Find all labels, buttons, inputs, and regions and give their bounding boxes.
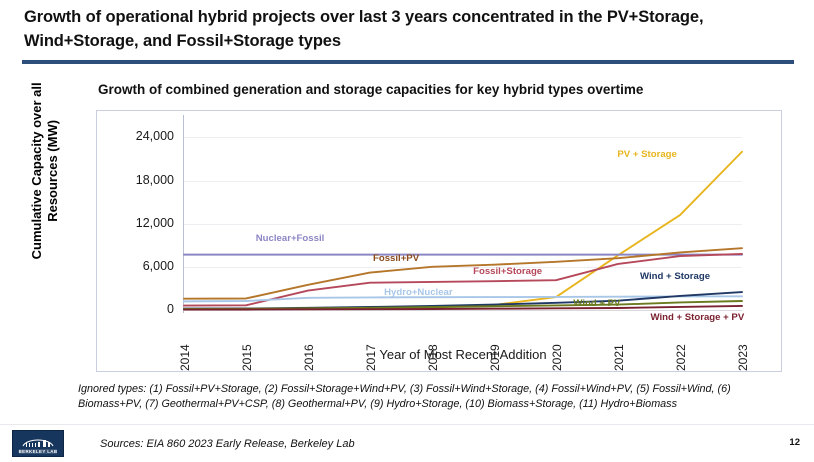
- x-axis-tick-label: 2017: [364, 314, 378, 371]
- y-axis-tick-label: 24,000: [100, 129, 174, 143]
- x-axis-tick-label: 2020: [550, 314, 564, 371]
- page-title: Growth of operational hybrid projects ov…: [24, 6, 794, 54]
- series-label: Fossil+Storage: [473, 266, 542, 277]
- y-axis-tick-label: 6,000: [100, 259, 174, 273]
- x-axis-tick-label: 2015: [240, 314, 254, 371]
- chart-title: Growth of combined generation and storag…: [98, 82, 788, 97]
- x-axis-tick-label: 2016: [302, 314, 316, 371]
- x-axis-tick-label: 2014: [178, 314, 192, 371]
- x-axis-tick-label: 2018: [426, 314, 440, 371]
- series-label: Wind + Storage: [640, 271, 710, 282]
- series-label: Fossil+PV: [373, 253, 419, 264]
- y-axis-title: Cumulative Capacity over all Resources (…: [29, 71, 61, 271]
- ignored-types-footnote: Ignored types: (1) Fossil+PV+Storage, (2…: [78, 382, 794, 413]
- source-citation: Sources: EIA 860 2023 Early Release, Ber…: [100, 438, 355, 450]
- series-label: Hydro+Nuclear: [384, 287, 453, 298]
- series-label: Wind + PV: [573, 298, 620, 309]
- title-divider: [22, 60, 794, 64]
- x-axis-tick-label: 2021: [612, 314, 626, 371]
- series-label: Wind + Storage + PV: [650, 312, 744, 323]
- series-label: PV + Storage: [617, 149, 676, 160]
- footer-divider: [0, 424, 814, 425]
- y-axis-tick-label: 18,000: [100, 173, 174, 187]
- logo-text: BERKELEY LAB: [19, 449, 58, 454]
- chart-container: 06,00012,00018,00024,000 201420152016201…: [96, 110, 782, 372]
- page-number: 12: [789, 437, 800, 448]
- logo-mark-icon: [21, 436, 55, 448]
- y-axis-tick-label: 0: [100, 302, 174, 316]
- series-line: [184, 152, 742, 309]
- x-axis-title: Year of Most Recent Addition: [184, 347, 742, 362]
- x-axis-tick-label: 2019: [488, 314, 502, 371]
- y-axis-tick-label: 12,000: [100, 216, 174, 230]
- series-label: Nuclear+Fossil: [256, 233, 325, 244]
- berkeley-lab-logo: BERKELEY LAB: [12, 430, 64, 457]
